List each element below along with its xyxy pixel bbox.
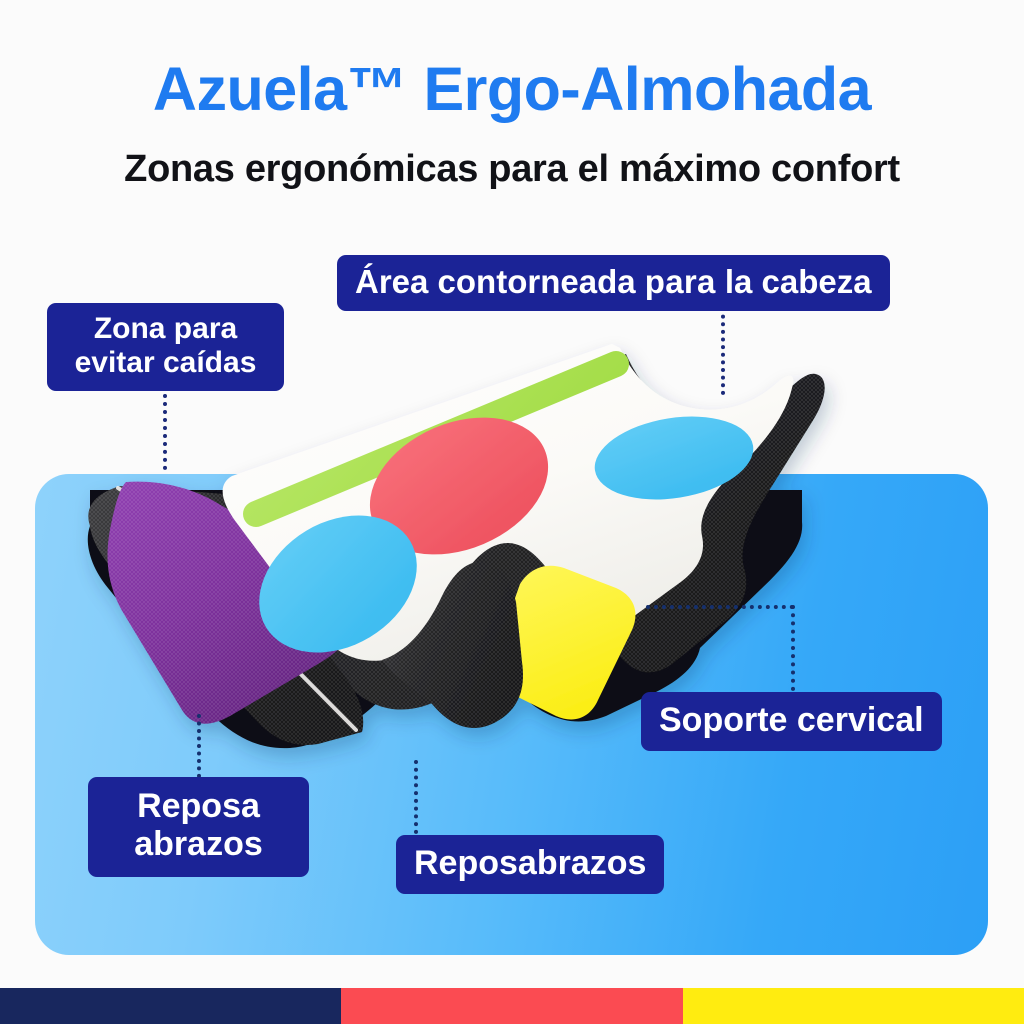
page-subtitle: Zonas ergonómicas para el máximo confort [0,148,1024,191]
connector-fall-zone [163,394,167,470]
callout-fall-zone[interactable]: Zona para evitar caídas [47,303,284,391]
color-bar-segment-navy [0,988,341,1024]
callout-armrest-center[interactable]: Reposabrazos [396,835,664,894]
callout-head-area-text-b: para [645,263,716,300]
connector-cervical-vertical [791,605,795,691]
callout-head-area[interactable]: Área contorneada para la cabeza [337,255,890,311]
color-bar-segment-yellow [683,988,1024,1024]
infographic-canvas: Azuela™ Ergo-Almohada Zonas ergonómicas … [0,0,1024,1024]
connector-cervical-horizontal [646,605,794,609]
callout-head-area-text-a: Área contorneada [355,263,645,300]
color-bar-segment-coral [341,988,683,1024]
page-title: Azuela™ Ergo-Almohada [0,54,1024,124]
bottom-color-bar [0,988,1024,1024]
callout-head-area-text-c: la cabeza [716,263,872,300]
connector-head-area [721,307,725,395]
connector-armrest-left [197,714,201,778]
connector-armrest-center [414,760,418,834]
callout-cervical-support[interactable]: Soporte cervical [641,692,942,751]
callout-armrest-left[interactable]: Reposa abrazos [88,777,309,877]
